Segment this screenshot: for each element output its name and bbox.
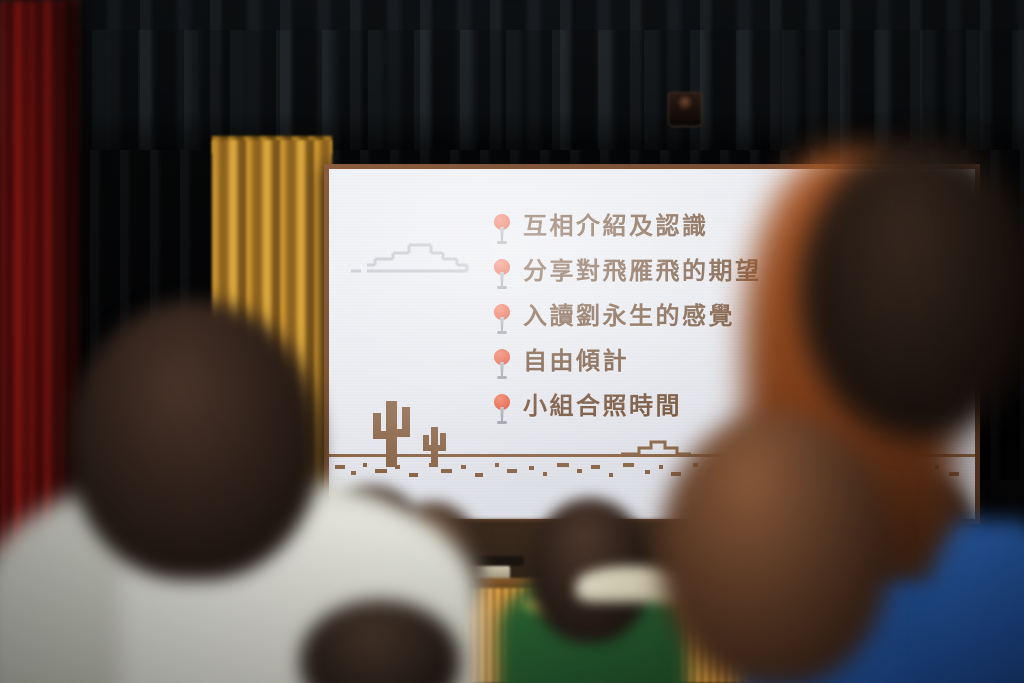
person-blue-uniform-body-2: [930, 520, 1024, 683]
bullet-text: 小組合照時間: [523, 391, 682, 421]
list-item: 互相介紹及認識: [491, 211, 951, 256]
red-curtain-shadow: [40, 0, 84, 560]
wooden-slatted-podium: [392, 588, 792, 683]
projector-mount-arm: [672, 122, 698, 127]
pixel-ground-dots: [329, 457, 975, 491]
list-item: 分享對飛雁飛的期望: [491, 256, 951, 301]
projection-screen: 互相介紹及認識 分享對飛雁飛的期望 入讀劉永生的感覺: [329, 169, 975, 519]
pin-marker-icon: [491, 214, 513, 248]
pin-marker-icon: [491, 304, 513, 338]
podium-rail: [404, 556, 524, 566]
bullet-text: 自由傾計: [523, 346, 629, 376]
pixel-ground-line: [329, 454, 975, 457]
bullet-text: 分享對飛雁飛的期望: [523, 256, 762, 286]
pixel-hill-bump-icon: [621, 439, 691, 457]
hall-scene: 互相介紹及認識 分享對飛雁飛的期望 入讀劉永生的感覺: [0, 0, 1024, 683]
projector-lens-icon: [676, 96, 694, 110]
list-item: 小組合照時間: [491, 391, 951, 436]
pixel-cactus-large-icon: [371, 401, 411, 467]
list-item: 自由傾計: [491, 346, 951, 391]
pin-marker-icon: [491, 394, 513, 428]
bullet-text: 入讀劉永生的感覺: [523, 301, 735, 331]
projection-screen-frame: 互相介紹及認識 分享對飛雁飛的期望 入讀劉永生的感覺: [324, 164, 980, 524]
bullet-text: 互相介紹及認識: [523, 211, 709, 241]
pixel-cactus-small-icon: [421, 427, 447, 467]
pixel-hill-bump-right-icon: [827, 439, 897, 457]
pin-marker-icon: [491, 349, 513, 383]
pin-marker-icon: [491, 259, 513, 293]
list-item: 入讀劉永生的感覺: [491, 301, 951, 346]
slide-bullet-list: 互相介紹及認識 分享對飛雁飛的期望 入讀劉永生的感覺: [491, 211, 951, 436]
pixel-cloud-left-icon: [347, 231, 477, 277]
